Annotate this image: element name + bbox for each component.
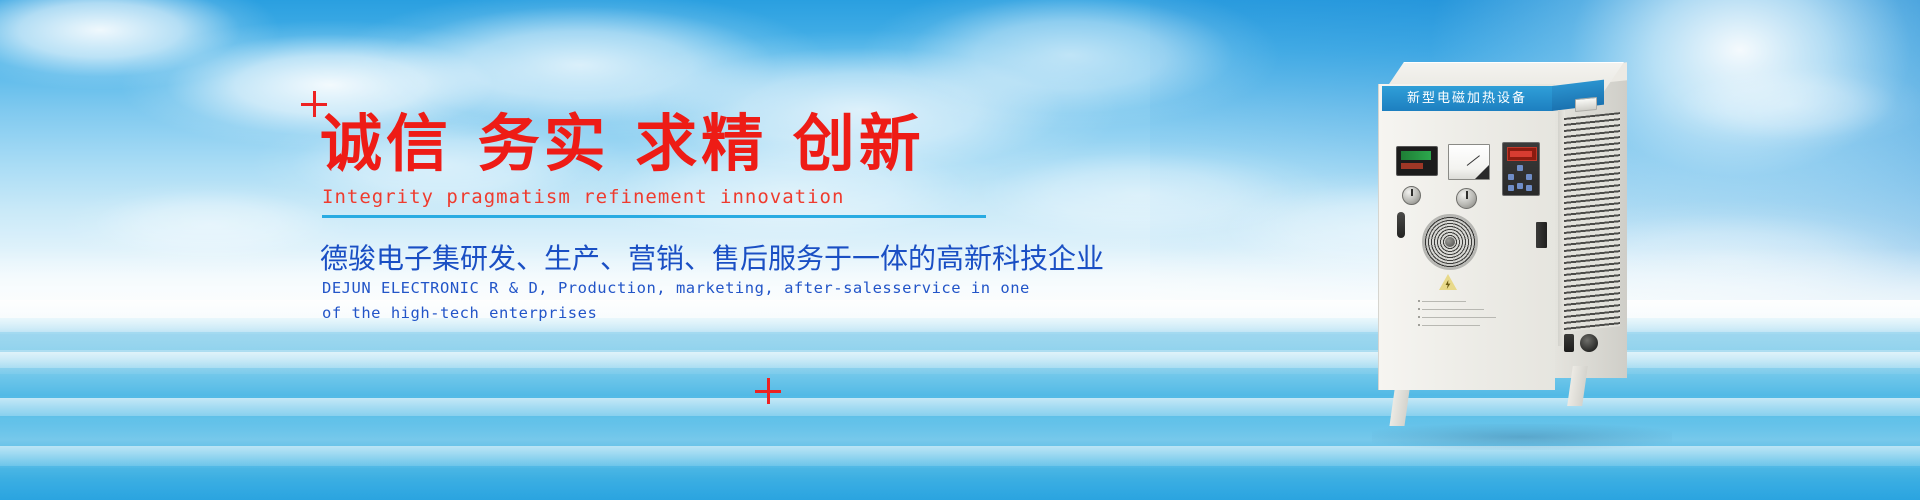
label-bullet	[1418, 316, 1420, 318]
subheadline-chinese: 德骏电子集研发、生产、营销、售后服务于一体的高新科技企业	[320, 237, 1104, 277]
divider-line	[322, 215, 986, 218]
keypad-button[interactable]	[1517, 165, 1523, 171]
ventilation-louvers-icon	[1564, 112, 1620, 332]
door-handle-icon[interactable]	[1575, 97, 1597, 112]
product-machine: 新型电磁加热设备	[1378, 62, 1658, 434]
keypad-button[interactable]	[1508, 185, 1514, 191]
label-text-line	[1422, 301, 1466, 302]
label-bullet	[1418, 308, 1420, 310]
digital-readout-red	[1401, 163, 1423, 169]
analog-meter-icon	[1448, 144, 1490, 180]
keypad-button[interactable]	[1517, 183, 1523, 189]
meter-needle	[1467, 155, 1480, 166]
sensor-probe-icon	[1397, 212, 1405, 238]
headline-english: Integrity pragmatism refinement innovati…	[322, 186, 844, 208]
rotary-knob-left-icon[interactable]	[1402, 186, 1421, 205]
keypad-button[interactable]	[1526, 174, 1532, 180]
keypad-panel-icon[interactable]	[1502, 142, 1540, 196]
digital-readout-green	[1401, 151, 1431, 160]
fan-grille-icon	[1422, 214, 1478, 270]
banner-text-block: 诚信 务实 求精 创新 Integrity pragmatism refinem…	[0, 0, 1100, 500]
fan-hub	[1445, 237, 1455, 247]
label-bullet	[1418, 300, 1420, 302]
rotary-knob-right-icon[interactable]	[1456, 188, 1477, 209]
keypad-button[interactable]	[1526, 185, 1532, 191]
label-bullet	[1418, 324, 1420, 326]
label-text-line	[1422, 317, 1496, 318]
headline-chinese: 诚信 务实 求精 创新	[320, 113, 925, 175]
subheadline-english: DEJUN ELECTRONIC R & D, Production, mark…	[322, 276, 1030, 326]
plus-mark-icon	[755, 378, 781, 404]
keypad-display	[1507, 147, 1537, 161]
keypad-button[interactable]	[1508, 174, 1514, 180]
warning-label	[1422, 296, 1504, 330]
digital-controller-icon[interactable]	[1396, 146, 1438, 176]
subheadline-english-line2: of the high-tech enterprises	[322, 301, 1030, 326]
cable-port-round-icon	[1580, 334, 1598, 352]
machine-brand-label: 新型电磁加热设备	[1382, 86, 1552, 111]
label-text-line	[1422, 325, 1480, 326]
support-leg-left-icon	[1389, 390, 1409, 426]
promo-banner: 诚信 务实 求精 创新 Integrity pragmatism refinem…	[0, 0, 1920, 500]
label-text-line	[1422, 309, 1484, 310]
door-latch-icon[interactable]	[1536, 222, 1547, 248]
cloud-icon	[1650, 60, 1920, 150]
subheadline-english-line1: DEJUN ELECTRONIC R & D, Production, mark…	[322, 276, 1030, 301]
cable-port-square-icon	[1564, 334, 1574, 352]
